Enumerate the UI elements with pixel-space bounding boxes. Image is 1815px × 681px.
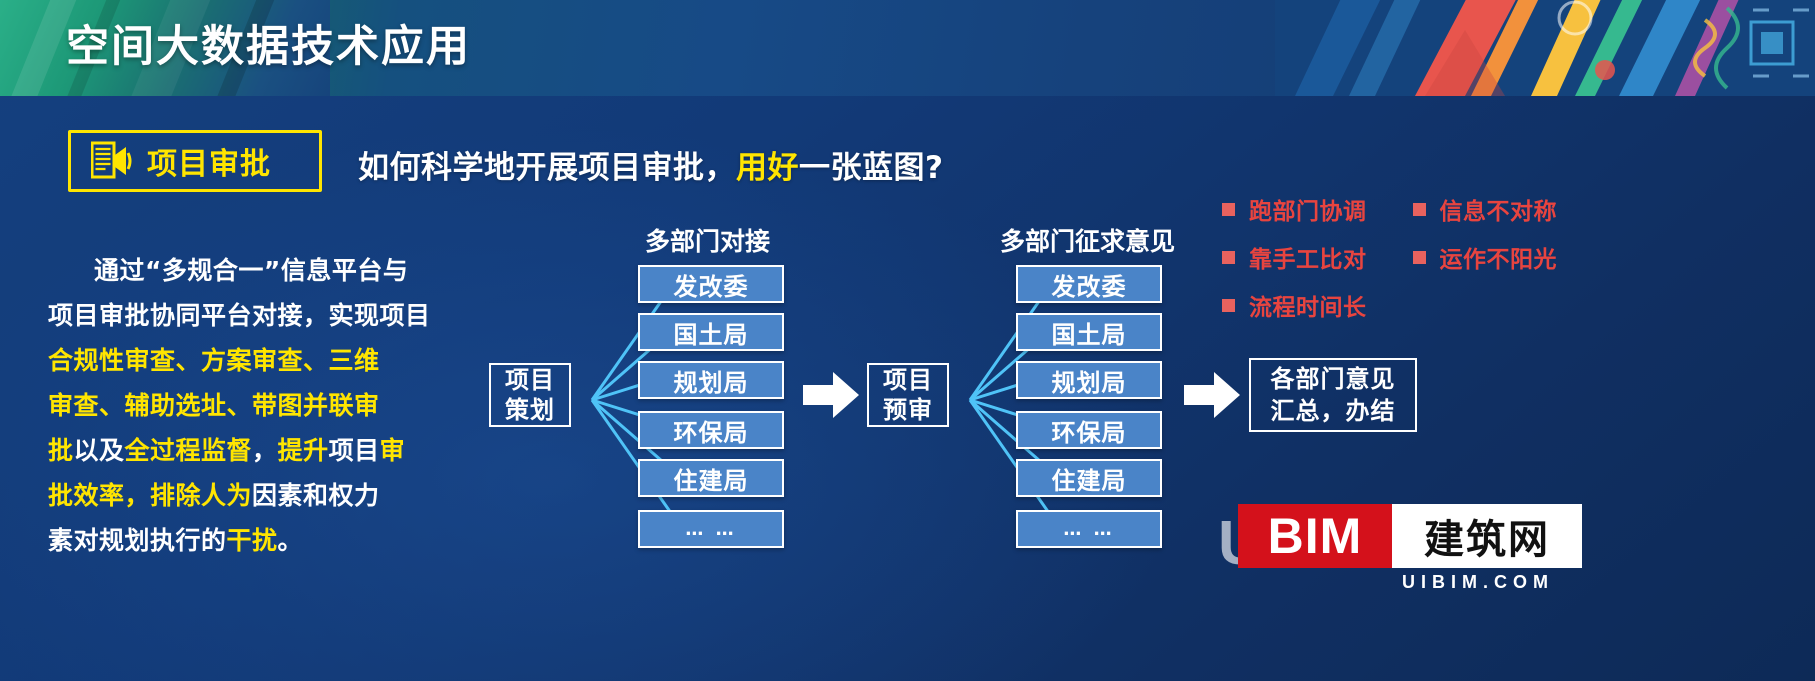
department-node[interactable]: 国土局 <box>638 313 784 351</box>
paragraph-text: 项目审批协同平台对接，实现项目 <box>48 301 431 330</box>
stage-box-project-planning[interactable]: 项目 策划 <box>489 363 571 427</box>
department-node[interactable]: 规划局 <box>638 361 784 399</box>
department-node-label: 环保局 <box>1052 413 1127 448</box>
department-node-label: 国土局 <box>674 315 749 350</box>
department-node-label: 规划局 <box>674 363 749 398</box>
paragraph-line: 审查、辅助选址、带图并联审 <box>48 383 444 428</box>
bullet-square-icon <box>1222 203 1235 216</box>
stage1-line1: 项目 <box>505 365 555 395</box>
paragraph-text: 合规性审查、方案审查、三维 <box>48 346 380 375</box>
paragraph-line: 通过“多规合一”信息平台与 <box>48 248 444 293</box>
paragraph-line: 批效率，排除人为因素和权力 <box>48 473 444 518</box>
department-node[interactable]: 规划局 <box>1016 361 1162 399</box>
headline-part1: 如何科学地开展项目审批， <box>358 150 736 186</box>
header-decorative-art <box>1275 0 1815 96</box>
paragraph-text: 全过程监督 <box>125 436 253 465</box>
document-announce-icon <box>91 141 133 181</box>
department-node-label: 规划局 <box>1052 363 1127 398</box>
issue-label: 靠手工比对 <box>1249 240 1367 274</box>
paragraph-text: 以及 <box>74 436 125 465</box>
issue-label: 流程时间长 <box>1249 288 1367 322</box>
paragraph-text: 提升 <box>278 436 329 465</box>
department-node[interactable]: 环保局 <box>638 411 784 449</box>
result-box-summary[interactable]: 各部门意见 汇总，办结 <box>1249 358 1417 432</box>
department-node[interactable]: 发改委 <box>1016 265 1162 303</box>
watermark-cn-box: 建筑网 <box>1392 504 1582 568</box>
department-node[interactable]: 发改委 <box>638 265 784 303</box>
issue-item: 运作不阳光 <box>1413 240 1558 274</box>
stage2-line2: 预审 <box>883 395 933 425</box>
slide-header: 空间大数据技术应用 <box>0 0 1815 96</box>
issue-label: 信息不对称 <box>1440 192 1558 226</box>
section-badge: 项目审批 <box>68 130 322 192</box>
paragraph-text: 批效率，排除人为 <box>48 481 252 510</box>
department-node-label: 发改委 <box>1052 267 1127 302</box>
department-node-label: 住建局 <box>674 461 749 496</box>
paragraph-text: 批 <box>48 436 74 465</box>
bullet-square-icon <box>1413 203 1426 216</box>
column2-title: 多部门征求意见 <box>1000 222 1175 258</box>
department-node[interactable]: 住建局 <box>1016 459 1162 497</box>
watermark-bim: BIM <box>1268 507 1363 565</box>
paragraph-text: 素对规划执行的 <box>48 526 227 555</box>
arrow-right-icon <box>1184 372 1240 418</box>
slide-canvas: 空间大数据技术应用 项目审批 如何科学地开展项目审批，用好一张蓝图? 通过“多规… <box>0 0 1815 681</box>
watermark-domain: UIBIM.COM <box>1402 572 1554 593</box>
issue-item: 流程时间长 <box>1222 288 1367 322</box>
paragraph-text: 审查、辅助选址、带图并联审 <box>48 391 380 420</box>
stage2-line1: 项目 <box>883 365 933 395</box>
paragraph-text: 通过“多规合一”信息平台与 <box>94 256 408 285</box>
paragraph-text: 项目 <box>329 436 380 465</box>
headline-highlight: 用好 <box>736 150 799 186</box>
result-line1: 各部门意见 <box>1271 363 1396 395</box>
department-node-label: 环保局 <box>674 413 749 448</box>
department-node-label: 国土局 <box>1052 315 1127 350</box>
paragraph-text: 干扰 <box>227 526 278 555</box>
stage-box-project-prereview[interactable]: 项目 预审 <box>867 363 949 427</box>
paragraph-line: 素对规划执行的干扰。 <box>48 518 444 563</box>
stage1-line2: 策划 <box>505 395 555 425</box>
issues-row: 流程时间长 <box>1222 288 1802 322</box>
department-node[interactable]: 住建局 <box>638 459 784 497</box>
issue-item: 靠手工比对 <box>1222 240 1367 274</box>
department-node[interactable]: 环保局 <box>1016 411 1162 449</box>
bullet-square-icon <box>1222 251 1235 264</box>
issue-item: 跑部门协调 <box>1222 192 1367 226</box>
issues-row: 跑部门协调信息不对称 <box>1222 192 1802 226</box>
paragraph-text: 审 <box>380 436 406 465</box>
issue-label: 跑部门协调 <box>1249 192 1367 226</box>
headline: 如何科学地开展项目审批，用好一张蓝图? <box>358 142 943 187</box>
arrow-right-icon <box>803 372 859 418</box>
paragraph-line: 批以及全过程监督，提升项目审 <box>48 428 444 473</box>
department-node-label: 住建局 <box>1052 461 1127 496</box>
issues-row: 靠手工比对运作不阳光 <box>1222 240 1802 274</box>
paragraph-line: 合规性审查、方案审查、三维 <box>48 338 444 383</box>
headline-part2: 一张蓝图? <box>799 150 943 186</box>
description-paragraph: 通过“多规合一”信息平台与项目审批协同平台对接，实现项目合规性审查、方案审查、三… <box>48 248 444 563</box>
issue-item: 信息不对称 <box>1413 192 1558 226</box>
department-node[interactable]: 国土局 <box>1016 313 1162 351</box>
badge-label: 项目审批 <box>147 139 271 183</box>
bullet-square-icon <box>1222 299 1235 312</box>
department-node[interactable]: … … <box>1016 510 1162 548</box>
result-line2: 汇总，办结 <box>1271 395 1396 427</box>
column1-title: 多部门对接 <box>645 222 770 258</box>
page-title: 空间大数据技术应用 <box>66 12 471 74</box>
paragraph-text: ， <box>252 436 278 465</box>
department-node-label: … … <box>1063 519 1114 540</box>
paragraph-line: 项目审批协同平台对接，实现项目 <box>48 293 444 338</box>
department-node-label: … … <box>685 519 736 540</box>
department-node[interactable]: … … <box>638 510 784 548</box>
watermark-cn: 建筑网 <box>1424 507 1550 565</box>
department-node-label: 发改委 <box>674 267 749 302</box>
paragraph-text: 因素和权力 <box>252 481 380 510</box>
issue-label: 运作不阳光 <box>1440 240 1558 274</box>
paragraph-text: 。 <box>278 526 304 555</box>
issues-list: 跑部门协调信息不对称靠手工比对运作不阳光流程时间长 <box>1222 192 1802 336</box>
watermark-bim-box: BIM <box>1238 504 1392 568</box>
watermark-logo: U BIM 建筑网 UIBIM.COM <box>1196 492 1796 602</box>
bullet-square-icon <box>1413 251 1426 264</box>
